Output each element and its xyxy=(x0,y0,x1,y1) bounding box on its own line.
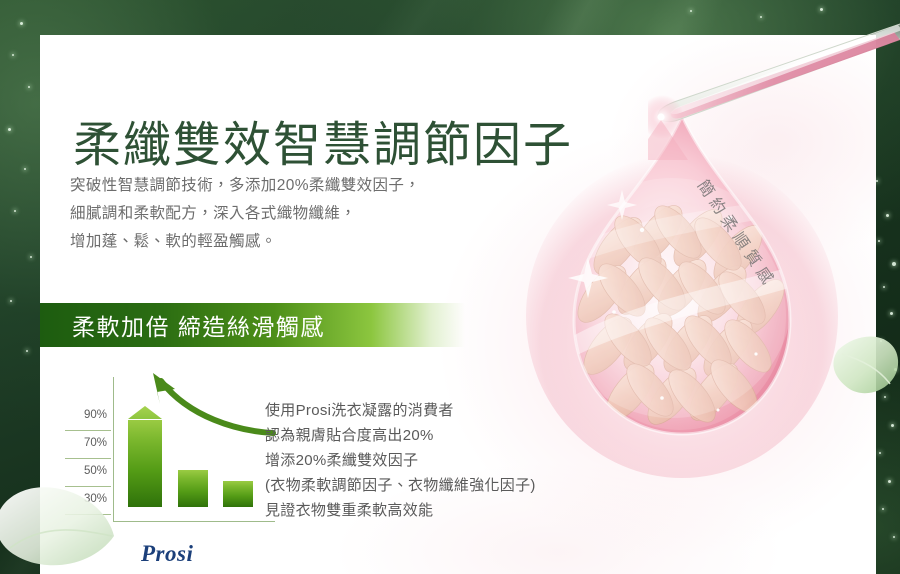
content-panel: 柔纖雙效智慧調節因子 突破性智慧調節技術，多添加20%柔纖雙效因子， 細膩調和柔… xyxy=(40,35,876,574)
y-tick-30: 30% xyxy=(65,493,111,515)
subtitle-line-1: 突破性智慧調節技術，多添加20%柔纖雙效因子， xyxy=(70,172,420,200)
chart-x-axis-line xyxy=(113,521,275,522)
chart-copy-line-2: 認為親膚貼合度高出20% xyxy=(265,423,536,448)
section-banner-label: 柔軟加倍 締造絲滑觸感 xyxy=(72,308,325,342)
chart-copy-line-1: 使用Prosi洗衣凝露的消費者 xyxy=(265,398,536,423)
chart-y-axis-line xyxy=(113,377,114,521)
y-tick-90: 90% xyxy=(65,409,111,431)
brand-logo-text: Prosi xyxy=(141,541,193,567)
subtitle-line-2: 細膩調和柔軟配方，深入各式織物纖維， xyxy=(70,200,420,228)
page-title: 柔纖雙效智慧調節因子 xyxy=(73,119,573,173)
chart-copy-line-5: 見證衣物雙重柔軟高效能 xyxy=(265,498,536,523)
y-tick-70: 70% xyxy=(65,437,111,459)
section-banner: 柔軟加倍 締造絲滑觸感 xyxy=(40,303,465,347)
subtitle-block: 突破性智慧調節技術，多添加20%柔纖雙效因子， 細膩調和柔軟配方，深入各式織物纖… xyxy=(70,172,420,256)
promo-banner-stage: 柔纖雙效智慧調節因子 突破性智慧調節技術，多添加20%柔纖雙效因子， 細膩調和柔… xyxy=(0,0,900,574)
subtitle-line-3: 增加蓬、鬆、軟的輕盈觸感。 xyxy=(70,228,420,256)
bar-third xyxy=(223,481,253,507)
chart-description-block: 使用Prosi洗衣凝露的消費者 認為親膚貼合度高出20% 增添20%柔纖雙效因子… xyxy=(265,398,536,523)
upward-trend-arrow-icon xyxy=(127,373,275,439)
chart-copy-line-3: 增添20%柔纖雙效因子 xyxy=(265,448,536,473)
y-tick-50: 50% xyxy=(65,465,111,487)
bar-second xyxy=(178,470,208,507)
bar-chart: 90% 70% 50% 30% xyxy=(65,375,280,535)
chart-copy-line-4: (衣物柔軟調節因子、衣物纖維強化因子) xyxy=(265,473,536,498)
